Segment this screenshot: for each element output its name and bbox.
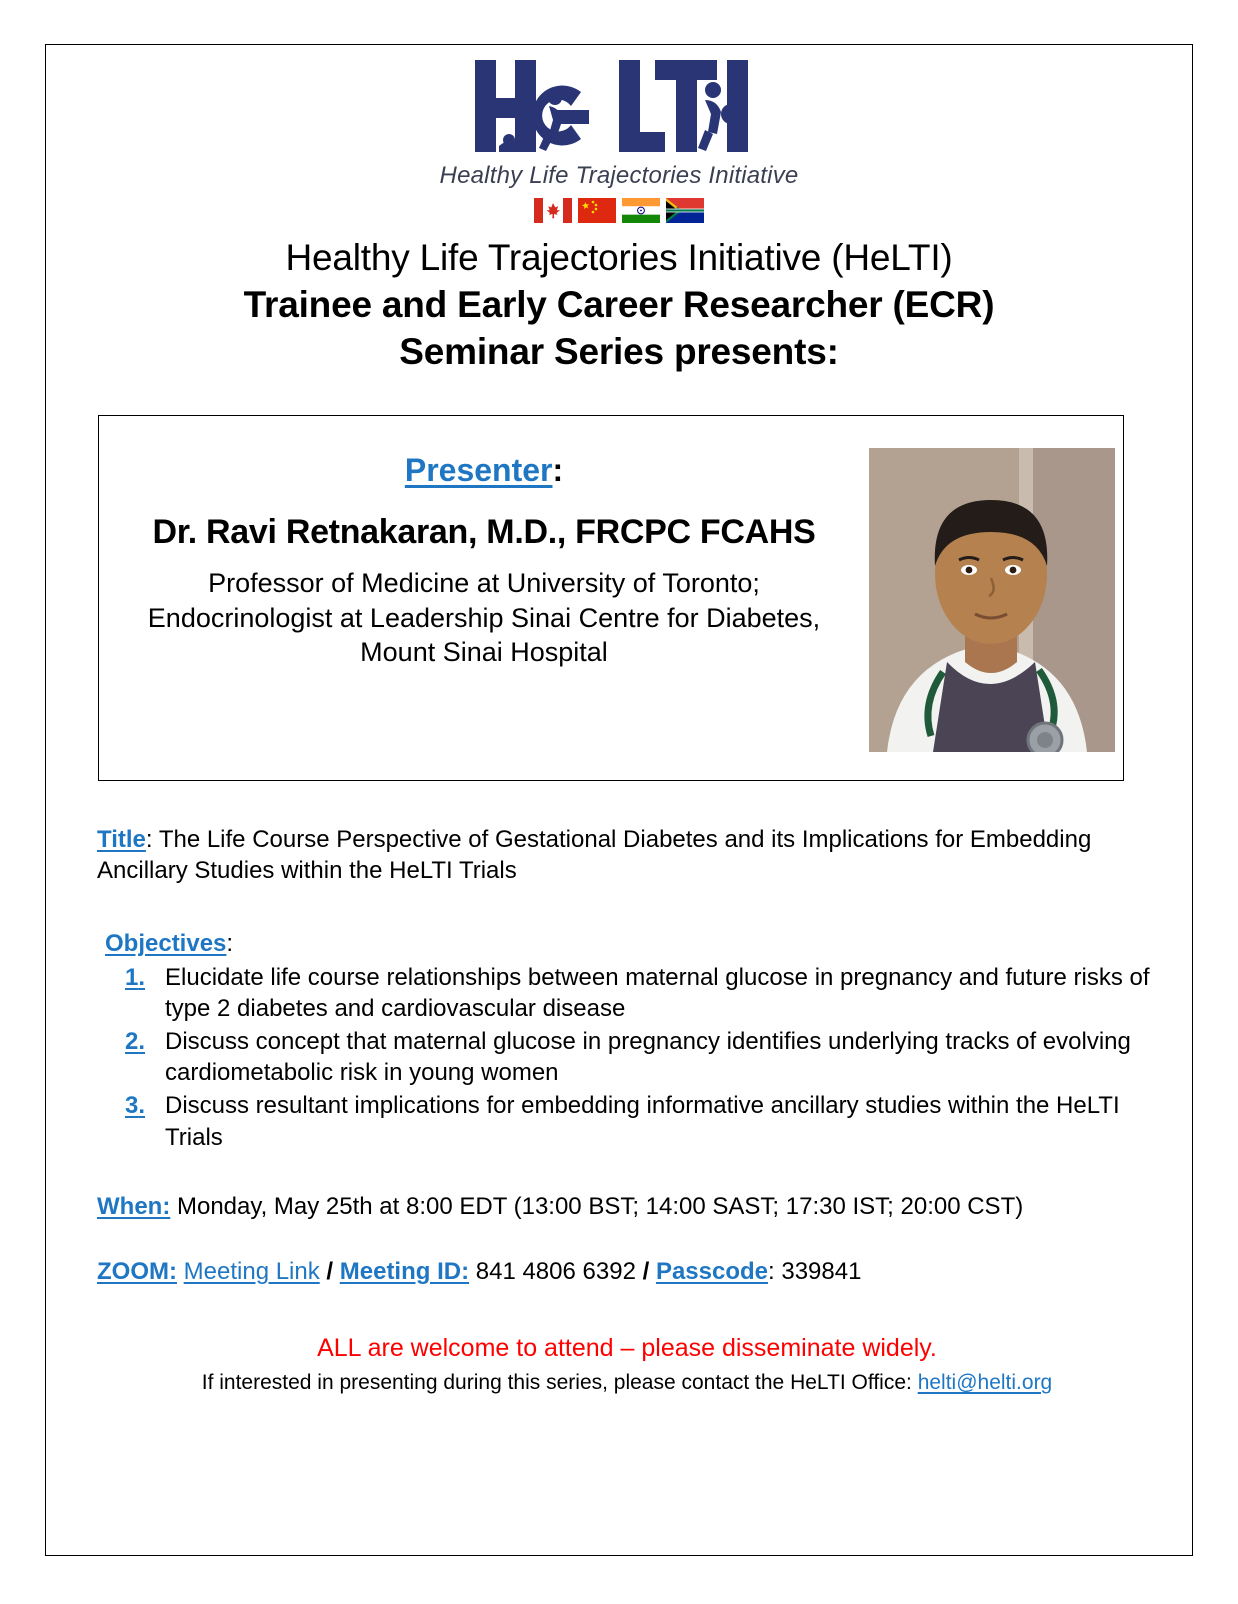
talk-title-label: Title [97, 826, 146, 853]
presenter-label: Presenter [405, 452, 553, 489]
presenter-photo [869, 448, 1115, 752]
welcome-notice: ALL are welcome to attend – please disse… [97, 1334, 1157, 1363]
zoom-separator-1: / [326, 1258, 333, 1285]
when-row: When: Monday, May 25th at 8:00 EDT (13:0… [97, 1191, 1157, 1222]
contact-prefix: If interested in presenting during this … [202, 1371, 912, 1394]
zoom-meeting-link[interactable]: Meeting Link [184, 1258, 320, 1285]
avatar [869, 448, 1115, 752]
passcode-value: 339841 [781, 1258, 861, 1285]
presenter-name: Dr. Ravi Retnakaran, M.D., FRCPC FCAHS [99, 513, 869, 552]
contact-email-link[interactable]: helti@helti.org [918, 1371, 1053, 1394]
helti-wordmark-icon [469, 54, 769, 166]
china-flag [578, 198, 616, 223]
talk-title-colon: : [146, 826, 153, 853]
presenter-affiliation-line-2: Endocrinologist at Leadership Sinai Cent… [99, 601, 869, 636]
helti-tagline: Healthy Life Trajectories Initiative [45, 162, 1193, 190]
talk-title-text: The Life Course Perspective of Gestation… [97, 826, 1091, 884]
passcode-label: Passcode [656, 1258, 768, 1285]
flyer-content: Healthy Life Trajectories Initiative [45, 44, 1193, 1556]
page-subtitle-1: Trainee and Early Career Researcher (ECR… [45, 284, 1193, 327]
list-item: Discuss concept that maternal glucose in… [165, 1026, 1157, 1088]
when-label: When: [97, 1193, 170, 1220]
when-value: Monday, May 25th at 8:00 EDT (13:00 BST;… [177, 1193, 1023, 1220]
presenter-affiliation-line-1: Professor of Medicine at University of T… [99, 566, 869, 601]
objectives-list: Elucidate life course relationships betw… [97, 962, 1157, 1153]
partner-country-flags [45, 198, 1193, 223]
objectives-heading: Objectives: [105, 928, 1157, 959]
talk-details: Title: The Life Course Perspective of Ge… [97, 824, 1157, 1287]
helti-logo: Healthy Life Trajectories Initiative [45, 44, 1193, 223]
meeting-id-value: 841 4806 6392 [476, 1258, 636, 1285]
meeting-id-label: Meeting ID: [340, 1258, 469, 1285]
zoom-row: ZOOM: Meeting Link / Meeting ID: 841 480… [97, 1256, 1157, 1287]
page-title: Healthy Life Trajectories Initiative (He… [45, 237, 1193, 280]
contact-line: If interested in presenting during this … [97, 1371, 1157, 1395]
page-subtitle-2: Seminar Series presents: [45, 331, 1193, 374]
presenter-details: Presenter: Dr. Ravi Retnakaran, M.D., FR… [99, 416, 869, 780]
india-flag [622, 198, 660, 223]
list-item: Elucidate life course relationships betw… [165, 962, 1157, 1024]
south-africa-flag [666, 198, 704, 223]
presenter-panel: Presenter: Dr. Ravi Retnakaran, M.D., FR… [98, 415, 1124, 781]
canada-flag [534, 198, 572, 223]
footer: ALL are welcome to attend – please disse… [97, 1334, 1157, 1395]
passcode-colon: : [768, 1258, 775, 1285]
zoom-label: ZOOM: [97, 1258, 177, 1285]
list-item: Discuss resultant implications for embed… [165, 1090, 1157, 1152]
talk-title-row: Title: The Life Course Perspective of Ge… [97, 824, 1157, 886]
presenter-affiliation-line-3: Mount Sinai Hospital [99, 635, 869, 670]
objectives-label: Objectives [105, 930, 226, 957]
objectives-colon: : [226, 930, 233, 957]
presenter-heading: Presenter: [99, 416, 869, 489]
zoom-separator-2: / [643, 1258, 650, 1285]
presenter-colon: : [552, 452, 563, 488]
